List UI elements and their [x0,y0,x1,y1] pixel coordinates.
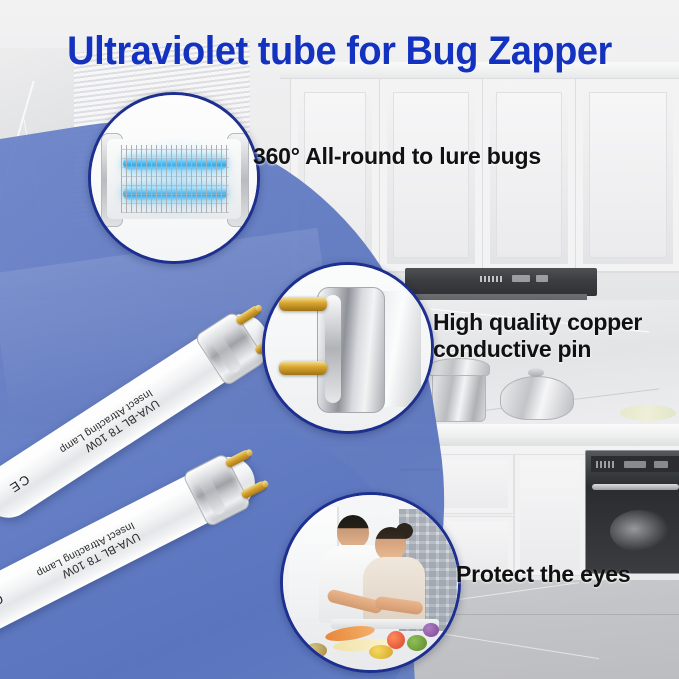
kettle [500,376,574,420]
potato [305,643,327,658]
zapper-uv-glow [113,137,239,221]
range-hood [405,268,597,296]
hood-control [536,275,548,282]
man-head [337,515,369,549]
hood-display [480,276,502,282]
hood-control [512,275,530,282]
copper-pin-illustration [265,265,431,431]
oven-handle [592,484,679,490]
upper-cabinet-door [379,78,483,272]
inset-bug-zapper [88,92,260,264]
upper-cabinet-door [575,78,679,272]
couple-illustration [283,495,458,670]
callout-protect-eyes: Protect the eyes [456,561,631,588]
squash [369,645,393,659]
kettle-knob [528,368,544,377]
oven-knob [654,461,668,468]
cap-ring-closeup [325,295,341,403]
inset-couple-cooking [280,492,461,673]
woman-body [363,557,425,625]
cabinet-door [514,454,586,576]
product-feature-image: UVA-BL T8 10W Insect Attracting Lamp CE … [0,0,679,679]
eggplant [423,623,439,637]
oven-button [624,461,646,468]
callout-lure-bugs: 360° All-round to lure bugs [253,143,541,170]
woman-head [375,527,406,561]
copper-pin-closeup [279,297,327,311]
copper-pin-closeup [279,361,327,375]
callout-copper-pin-line1: High quality copper [433,309,642,336]
callout-copper-pin: High quality copper conductive pin [433,309,642,363]
oven-reflection [610,510,670,552]
pepper [407,635,427,651]
counter-produce [620,405,676,421]
inset-copper-pin [262,262,434,434]
stock-pot [432,368,486,422]
upper-cabinet-door [482,78,576,272]
callout-copper-pin-line2: conductive pin [433,336,642,363]
page-title: Ultraviolet tube for Bug Zapper [17,28,662,74]
bug-zapper-illustration [91,95,257,261]
oven-display [596,461,614,468]
